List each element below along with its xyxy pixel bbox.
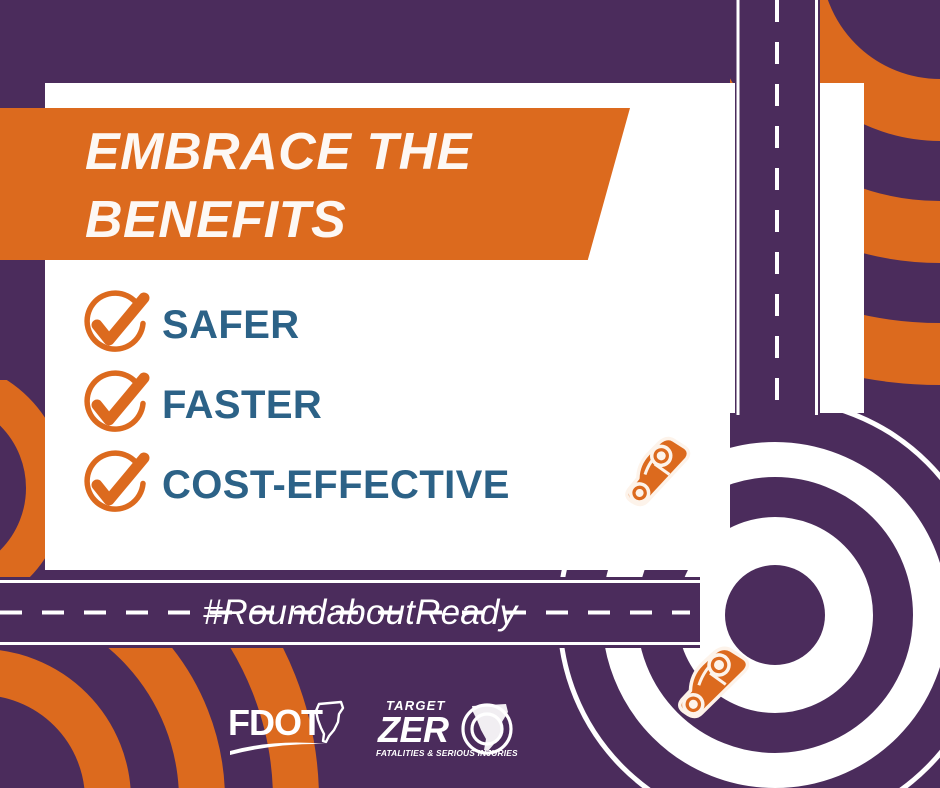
- target-zero-logo: TARGET ZER FATALITIES & SERIOUS INJURIES: [372, 696, 532, 760]
- target-zero-tagline: FATALITIES & SERIOUS INJURIES: [376, 748, 518, 758]
- hashtag-text: #RoundaboutReady: [0, 577, 700, 648]
- fdot-logo: FDOT: [228, 697, 358, 759]
- benefit-label: FASTER: [162, 383, 322, 428]
- target-zero-main-word: ZER: [377, 709, 449, 750]
- page-title: EMBRACE THE BENEFITS: [85, 118, 605, 254]
- fdot-swoosh: [230, 743, 326, 755]
- check-circle-icon: [82, 452, 148, 518]
- benefit-item-safer: SAFER: [82, 285, 682, 365]
- title-banner: EMBRACE THE BENEFITS: [0, 108, 630, 260]
- benefit-item-faster: FASTER: [82, 365, 682, 445]
- benefit-label: COST-EFFECTIVE: [162, 463, 510, 508]
- hashtag-band: #RoundaboutReady: [0, 577, 700, 648]
- benefit-label: SAFER: [162, 303, 300, 348]
- road-edge-line-right: [815, 0, 818, 415]
- benefits-list: SAFER FASTER COST-EFFECTIVE: [82, 285, 682, 525]
- benefit-item-cost-effective: COST-EFFECTIVE: [82, 445, 682, 525]
- fdot-wordmark: FDOT: [228, 702, 323, 743]
- road-edge-line-left: [737, 0, 740, 415]
- road-shoulder-right: [818, 83, 864, 413]
- check-circle-icon: [82, 372, 148, 438]
- roundabout-center-island: [725, 565, 825, 665]
- poster-canvas: EMBRACE THE BENEFITS SAFER FASTER: [0, 0, 940, 788]
- target-florida-icon: [463, 704, 511, 753]
- logo-row: FDOT TARGET ZER: [228, 694, 538, 762]
- check-circle-icon: [82, 292, 148, 358]
